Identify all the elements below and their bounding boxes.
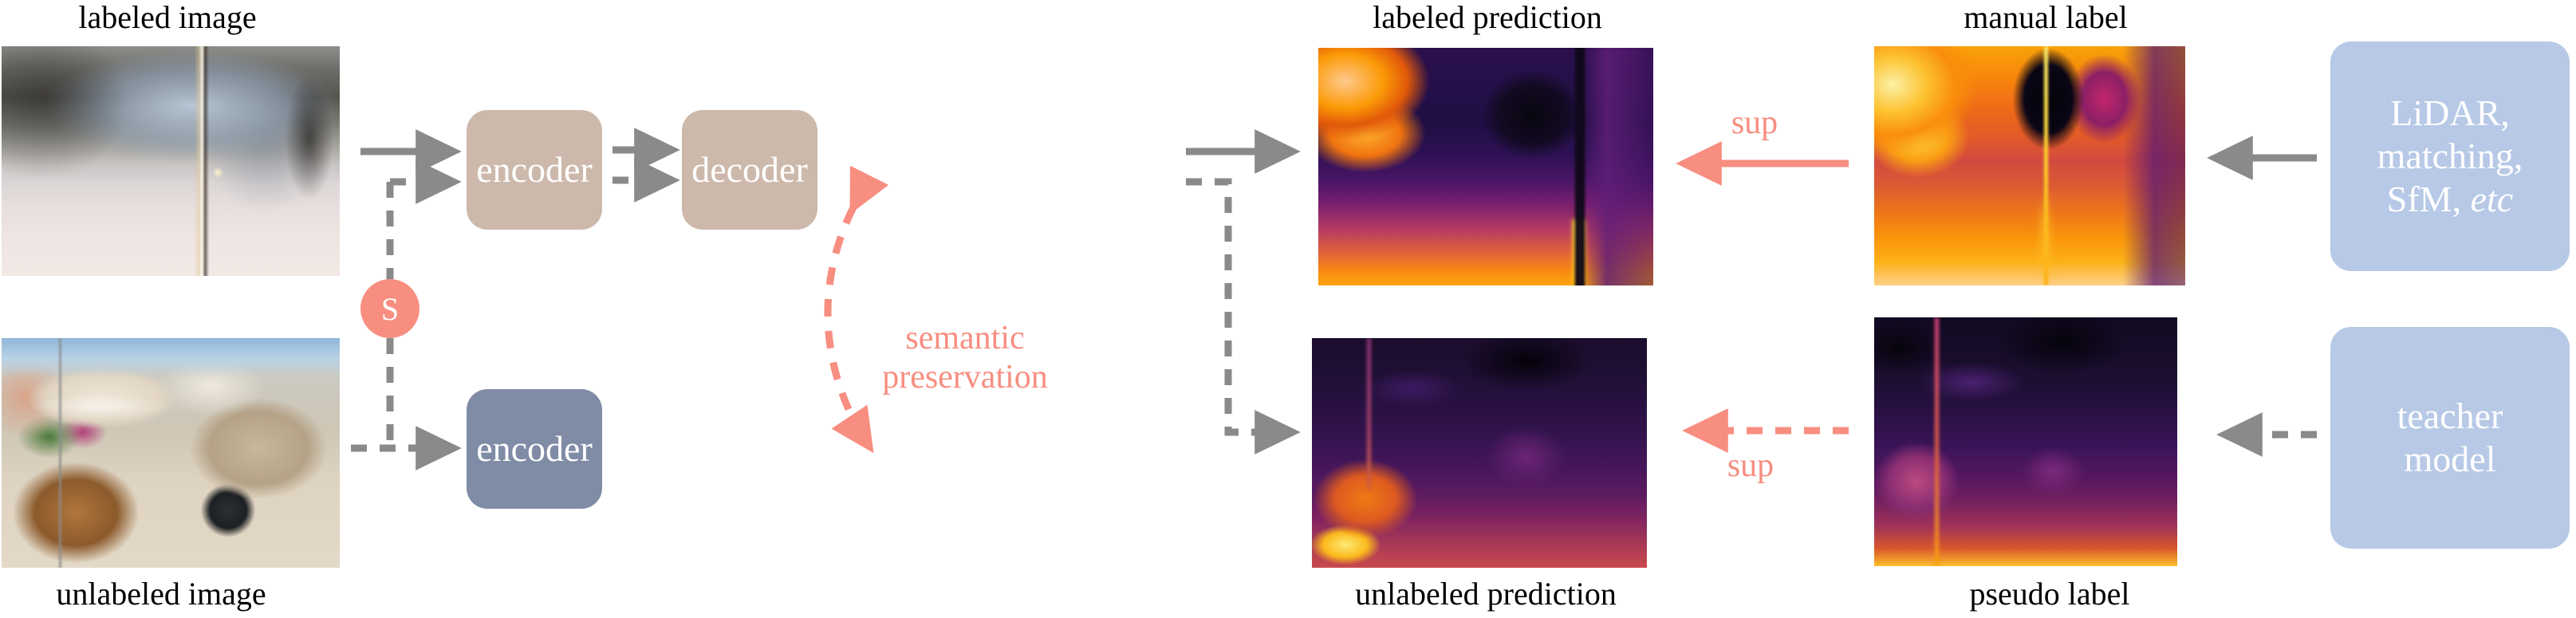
source-line-lidar: LiDAR, [2390, 92, 2510, 135]
semantic-preservation-label: semantic preservation [845, 319, 1085, 396]
encoder-labeled-label: encoder [476, 148, 593, 191]
source-line-sfm: SfM, etc [2387, 178, 2513, 221]
unlabeled-prediction-depthmap [1312, 338, 1647, 568]
shared-weights-label: S [381, 290, 399, 328]
semantic-preservation-line1: semantic [845, 319, 1085, 358]
teacher-model-box[interactable]: teacher model [2330, 327, 2570, 549]
semantic-preservation-line2: preservation [845, 358, 1085, 397]
depthmap-pseudo-label [1874, 317, 2177, 566]
labeled-prediction-depthmap [1318, 48, 1653, 285]
source-etc-text: etc [2471, 179, 2514, 219]
depth-hot-pole [1935, 317, 1939, 566]
source-line-matching: matching, [2377, 135, 2523, 178]
caption-labeled-prediction: labeled prediction [1328, 2, 1647, 33]
teacher-line-2: model [2405, 438, 2496, 481]
arrow-decoder-to-unlabeled-prediction [1186, 182, 1292, 432]
labeled-image-thumbnail [2, 46, 340, 276]
caption-manual-label: manual label [1914, 2, 2177, 33]
encoder-unlabeled-label: encoder [476, 427, 593, 470]
caption-unlabeled-prediction: unlabeled prediction [1314, 578, 1657, 610]
sup-label-top: sup [1707, 104, 1802, 143]
manual-label-depthmap [1874, 46, 2185, 285]
snowy-street-photo [2, 46, 340, 276]
encoder-labeled-box[interactable]: encoder [467, 110, 602, 230]
decoder-box[interactable]: decoder [682, 110, 817, 230]
depth-hot-pole [2044, 46, 2048, 285]
caption-unlabeled-image: unlabeled image [18, 578, 305, 610]
pseudo-label-depthmap [1874, 317, 2177, 566]
depthmap-manual-label [1874, 46, 2185, 285]
depth-hot-pole [1573, 219, 1585, 285]
depthmap-labeled-prediction [1318, 48, 1653, 285]
cafe-street-photo [2, 338, 340, 568]
teacher-line-1: teacher [2397, 395, 2503, 438]
figure-canvas: labeled image unlabeled image labeled pr… [0, 0, 2576, 618]
caption-labeled-image: labeled image [24, 2, 311, 33]
supervision-source-box[interactable]: LiDAR, matching, SfM, etc [2330, 41, 2570, 271]
caption-pseudo-label: pseudo label [1922, 578, 2177, 610]
shared-weights-node[interactable]: S [360, 279, 419, 338]
decoder-label: decoder [691, 148, 808, 191]
depthmap-unlabeled-prediction [1312, 338, 1647, 568]
encoder-unlabeled-box[interactable]: encoder [467, 389, 602, 509]
unlabeled-image-thumbnail [2, 338, 340, 568]
source-sfm-text: SfM, [2387, 179, 2471, 219]
depth-hot-pole [1367, 338, 1371, 490]
sup-label-bottom: sup [1703, 447, 1798, 486]
